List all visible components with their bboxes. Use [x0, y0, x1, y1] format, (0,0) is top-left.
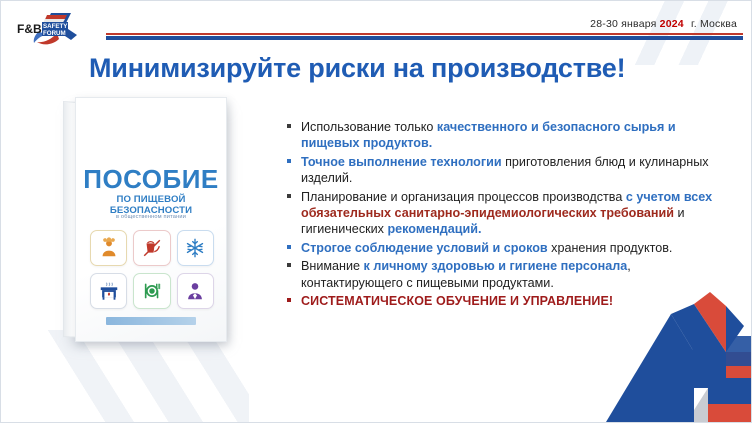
- event-year: 2024: [660, 18, 684, 30]
- bullet-segment: обязательных санитарно-эпидемиологически…: [301, 206, 678, 220]
- bullet-segment: хранения продуктов.: [551, 241, 672, 255]
- bullet-list: Использование только качественного и без…: [287, 119, 717, 311]
- bullet-marker-icon: [287, 119, 301, 128]
- bullet-item: Строгое соблюдение условий и сроков хран…: [287, 240, 717, 256]
- bullet-text: Строгое соблюдение условий и сроков хран…: [301, 240, 717, 256]
- bullet-item: Внимание к личному здоровью и гигиене пе…: [287, 258, 717, 291]
- bullet-text: Точное выполнение технологии приготовлен…: [301, 154, 717, 187]
- bullet-segment: Точное выполнение технологии: [301, 155, 505, 169]
- manager-person-icon: [177, 273, 214, 309]
- bullet-item: Планирование и организация процессов про…: [287, 189, 717, 238]
- bullet-marker-icon: [287, 258, 301, 267]
- book-mockup: ПОСОБИЕ ПО ПИЩЕВОЙ БЕЗОПАСНОСТИ в общест…: [63, 97, 229, 342]
- bullet-segment: СИСТЕМАТИЧЕСКОЕ ОБУЧЕНИЕ И УПРАВЛЕНИЕ!: [301, 294, 613, 308]
- no-cleaning-bucket-icon: [133, 230, 170, 266]
- event-date: 28-30 января: [590, 18, 656, 30]
- event-city: г. Москва: [691, 18, 737, 30]
- chef-icon: [90, 230, 127, 266]
- bullet-segment: Внимание: [301, 259, 364, 273]
- bullet-text: Внимание к личному здоровью и гигиене пе…: [301, 258, 717, 291]
- bullet-segment: Строгое соблюдение условий и сроков: [301, 241, 551, 255]
- bullet-segment: с учетом всех: [626, 190, 712, 204]
- book-cover: ПОСОБИЕ ПО ПИЩЕВОЙ БЕЗОПАСНОСТИ в общест…: [75, 97, 227, 342]
- plate-cutlery-icon: [133, 273, 170, 309]
- book-title-note: в общественном питании: [76, 214, 226, 220]
- event-date-location: 28-30 января 2024 г. Москва: [590, 18, 737, 30]
- slide-title: Минимизируйте риски на производстве!: [89, 53, 711, 84]
- bullet-marker-icon: [287, 154, 301, 163]
- bullet-marker-icon: [287, 293, 301, 302]
- book-bottom-accent-bar: [106, 317, 196, 325]
- bullet-text: Использование только качественного и без…: [301, 119, 717, 152]
- svg-text:F&B: F&B: [17, 22, 42, 36]
- bullet-marker-icon: [287, 240, 301, 249]
- decorative-chevron-graphic: [576, 292, 751, 422]
- bullet-marker-icon: [287, 189, 301, 198]
- book-title-main: ПОСОБИЕ: [76, 164, 226, 195]
- book-title-sub: ПО ПИЩЕВОЙ БЕЗОПАСНОСТИ: [76, 194, 226, 216]
- header-divider-rule: [106, 33, 743, 40]
- bullet-item: Точное выполнение технологии приготовлен…: [287, 154, 717, 187]
- presentation-slide: F&B SAFETY FORUM 28-30 января 2024 г. Мо…: [0, 0, 752, 423]
- svg-text:SAFETY: SAFETY: [43, 23, 68, 30]
- bullet-text: Планирование и организация процессов про…: [301, 189, 717, 238]
- rule-blue-line: [106, 36, 743, 40]
- book-icon-grid: [90, 230, 214, 309]
- bullet-segment: Использование только: [301, 120, 437, 134]
- bullet-segment: к личному здоровью и гигиене персонала: [364, 259, 628, 273]
- stove-cooking-icon: [90, 273, 127, 309]
- snowflake-icon: [177, 230, 214, 266]
- bullet-item: Использование только качественного и без…: [287, 119, 717, 152]
- fnb-safety-forum-logo: F&B SAFETY FORUM: [15, 9, 107, 49]
- svg-text:FORUM: FORUM: [43, 30, 66, 37]
- bullet-segment: рекомендаций.: [387, 222, 481, 236]
- bullet-segment: Планирование и организация процессов про…: [301, 190, 626, 204]
